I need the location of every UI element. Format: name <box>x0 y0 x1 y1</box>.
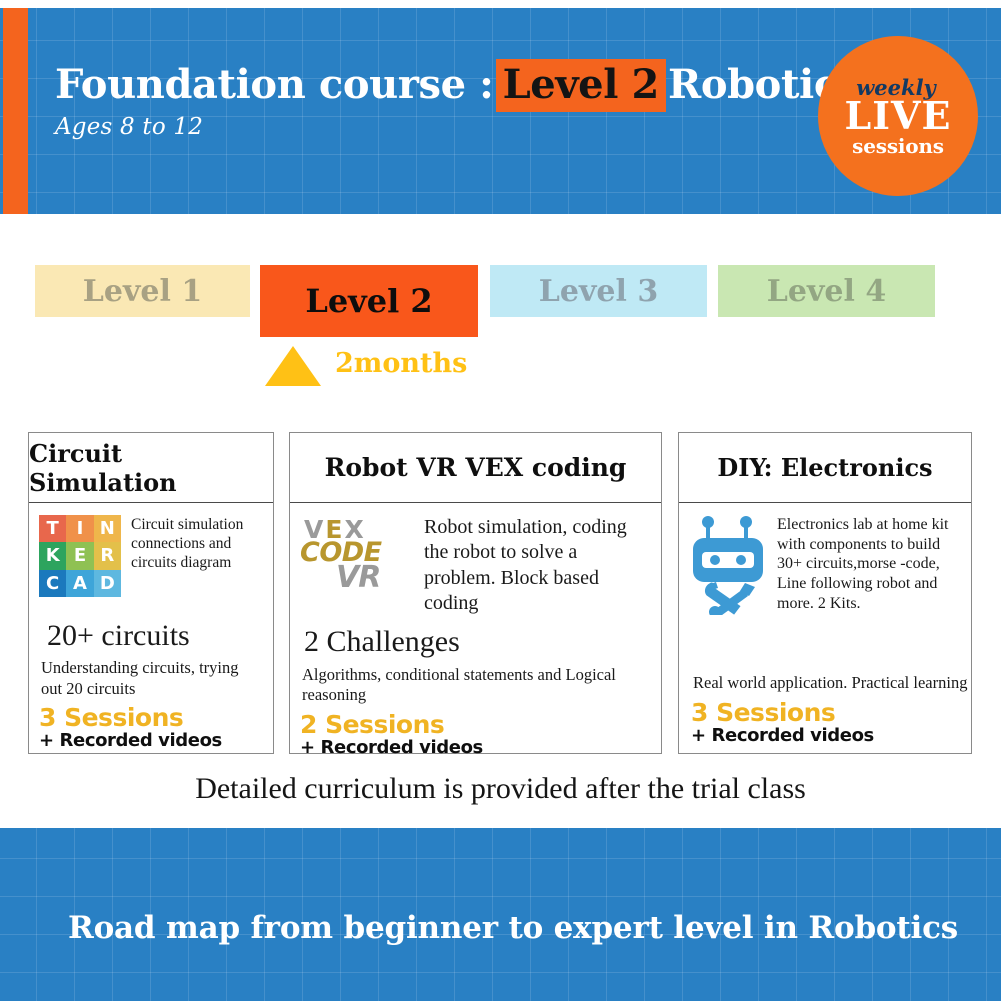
tinkercad-cell-e: E <box>66 542 93 569</box>
card-3-subtext: Real world application. Practical learni… <box>693 673 967 694</box>
tinkercad-cell-n: N <box>94 515 121 542</box>
vexcode-vr-logo-icon: VEX CODE VR <box>300 515 408 593</box>
level-tab-3[interactable]: Level 3 <box>490 265 707 317</box>
card-diy-electronics: DIY: Electronics <box>678 432 972 754</box>
tinkercad-cell-d: D <box>94 570 121 597</box>
tinkercad-cell-k: K <box>39 542 66 569</box>
card-2-recorded: + Recorded videos <box>300 737 651 758</box>
card-1-logo-desc: Circuit simulation connections and circu… <box>131 515 263 572</box>
page-subtitle: Ages 8 to 12 <box>55 114 860 140</box>
card-2-sessions: 2 Sessions <box>300 710 651 739</box>
tinkercad-cell-t: T <box>39 515 66 542</box>
footer-tagline: Road map from beginner to expert level i… <box>68 910 958 946</box>
header-accent-bar <box>3 8 28 214</box>
badge-sessions-label: sessions <box>852 136 944 156</box>
card-2-body: VEX CODE VR Robot simulation, coding the… <box>290 503 661 754</box>
robot-tools-icon <box>689 515 767 620</box>
card-1-headline: 20+ circuits <box>47 619 263 653</box>
page-title-highlight: Level 2 <box>496 59 666 112</box>
tinkercad-cell-r: R <box>94 542 121 569</box>
weekly-live-sessions-badge: weekly LIVE sessions <box>818 36 978 196</box>
tinkercad-cell-i: I <box>66 515 93 542</box>
level-tab-3-label: Level 3 <box>539 274 658 309</box>
vex-vr-wordmark: VR <box>336 563 380 593</box>
card-1-recorded: + Recorded videos <box>39 730 263 751</box>
badge-live-label: LIVE <box>845 97 952 135</box>
tinkercad-cell-a: A <box>66 570 93 597</box>
card-3-sessions: 3 Sessions <box>691 698 967 727</box>
card-3-logo-desc: Electronics lab at home kit with compone… <box>777 515 961 613</box>
level-tab-4-label: Level 4 <box>767 274 886 309</box>
card-2-bottom: Algorithms, conditional statements and L… <box>300 665 651 758</box>
card-3-logo-row: Electronics lab at home kit with compone… <box>689 515 961 620</box>
level-tabs: Level 1 Level 2 Level 3 Level 4 2months <box>0 260 1001 400</box>
footer-banner: Road map from beginner to expert level i… <box>0 828 1001 1001</box>
header-banner: Foundation course :Level 2Robotics Ages … <box>0 8 1001 214</box>
card-2-title: Robot VR VEX coding <box>290 433 661 503</box>
card-2-headline: 2 Challenges <box>304 625 651 659</box>
card-1-subtext: Understanding circuits, trying out 20 ci… <box>41 658 263 699</box>
card-3-body: Electronics lab at home kit with compone… <box>679 503 971 754</box>
card-1-body: TINKERCAD Circuit simulation connections… <box>29 503 273 754</box>
header-text-block: Foundation course :Level 2Robotics Ages … <box>55 64 860 140</box>
tinkercad-logo-icon: TINKERCAD <box>39 515 121 597</box>
duration-label: 2months <box>335 348 467 379</box>
card-1-sessions: 3 Sessions <box>39 703 263 732</box>
module-cards: Circuit Simulation TINKERCAD Circuit sim… <box>0 432 1001 757</box>
badge-weekly-label: weekly <box>856 77 936 98</box>
card-2-logo-row: VEX CODE VR Robot simulation, coding the… <box>300 515 651 617</box>
card-2-logo-desc: Robot simulation, coding the robot to so… <box>424 515 651 617</box>
card-3-recorded: + Recorded videos <box>691 725 967 746</box>
level-tab-4[interactable]: Level 4 <box>718 265 935 317</box>
level-tab-1-label: Level 1 <box>83 274 202 309</box>
level-tab-2-active[interactable]: Level 2 <box>260 265 478 337</box>
card-circuit-simulation: Circuit Simulation TINKERCAD Circuit sim… <box>28 432 274 754</box>
page-title: Foundation course :Level 2Robotics <box>55 64 860 106</box>
curriculum-footnote: Detailed curriculum is provided after th… <box>0 772 1001 806</box>
card-robot-vr-vex-coding: Robot VR VEX coding VEX CODE VR Robot si… <box>289 432 662 754</box>
triangle-pointer-icon <box>265 346 321 386</box>
level-tab-2-label: Level 2 <box>305 282 432 320</box>
page-title-prefix: Foundation course : <box>55 61 494 108</box>
card-1-title: Circuit Simulation <box>29 433 273 503</box>
card-3-bottom: Real world application. Practical learni… <box>691 665 967 746</box>
card-1-bottom: Understanding circuits, trying out 20 ci… <box>39 658 263 751</box>
tinkercad-cell-c: C <box>39 570 66 597</box>
level-tab-1[interactable]: Level 1 <box>35 265 250 317</box>
card-3-title: DIY: Electronics <box>679 433 971 503</box>
card-2-subtext: Algorithms, conditional statements and L… <box>302 665 651 706</box>
card-1-logo-row: TINKERCAD Circuit simulation connections… <box>39 515 263 597</box>
